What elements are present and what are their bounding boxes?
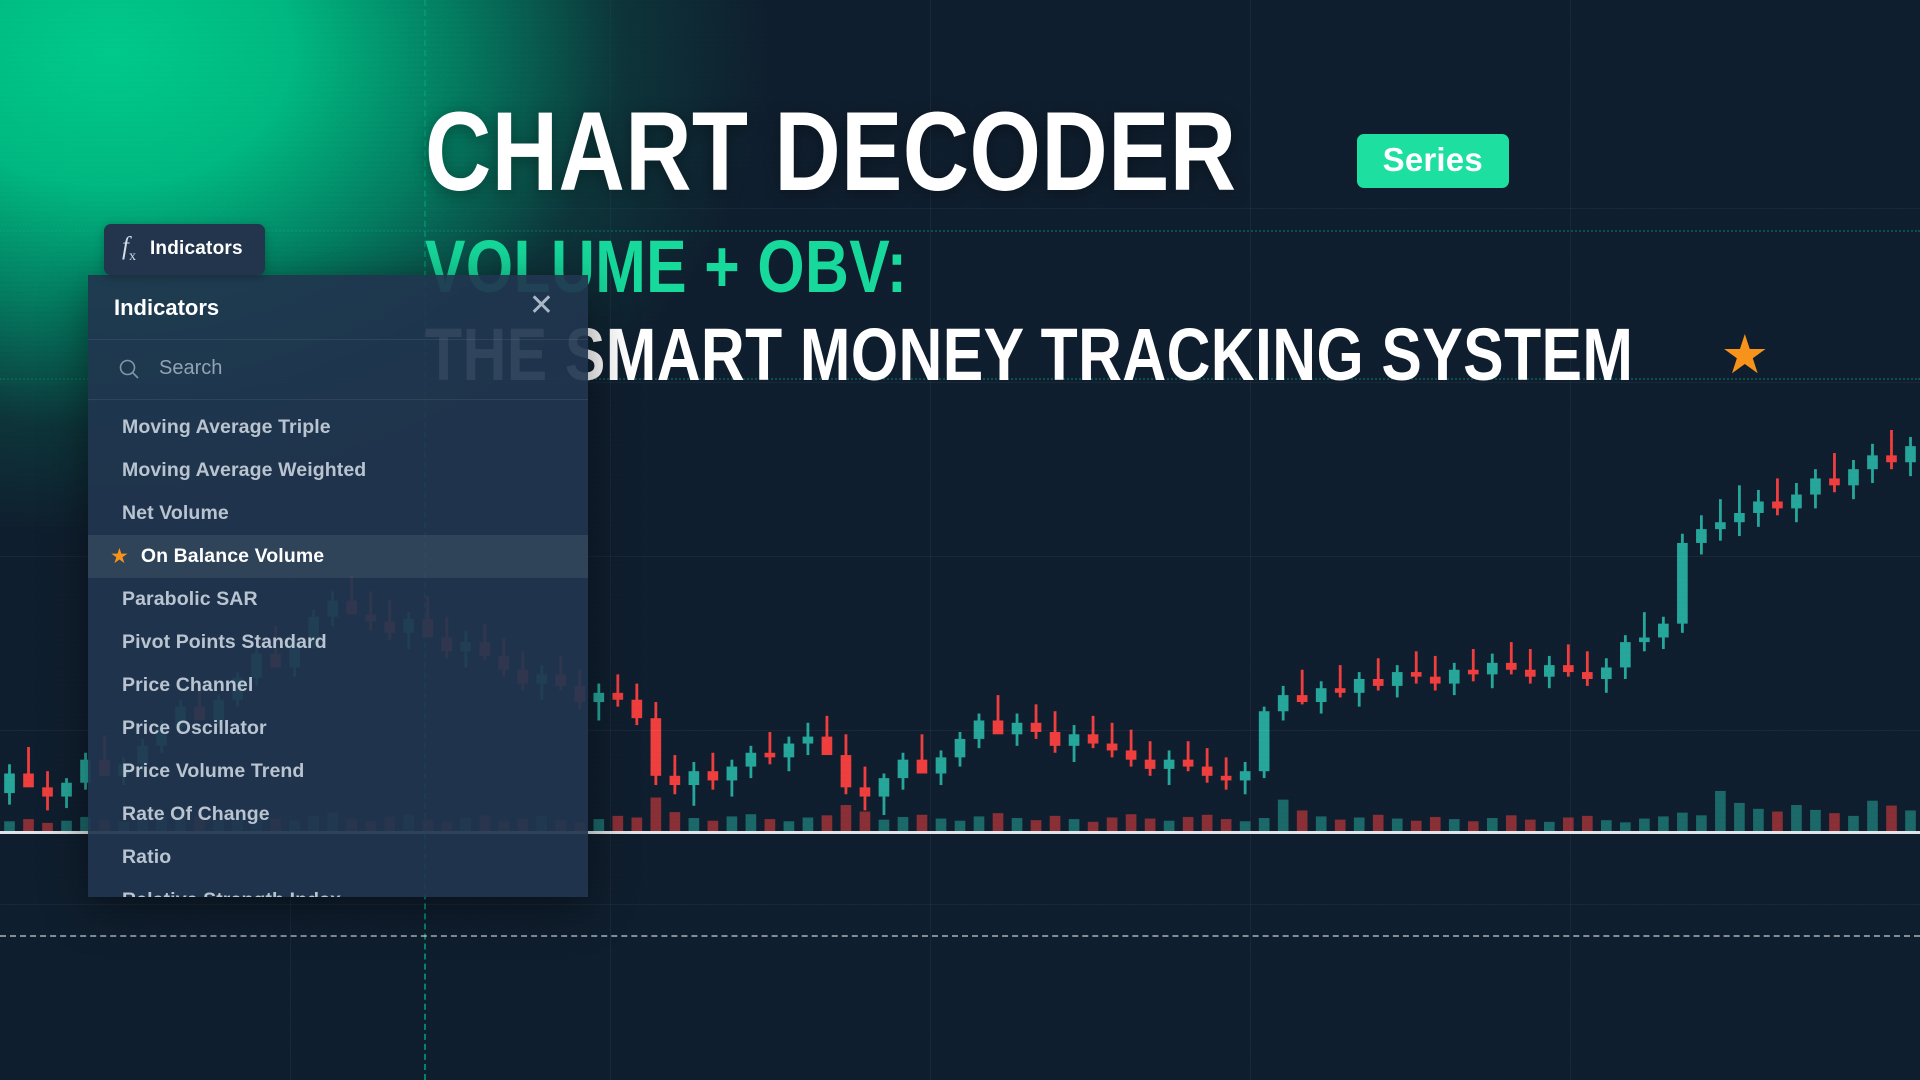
indicator-item-label: Net Volume bbox=[122, 502, 229, 525]
fx-icon: fx bbox=[122, 234, 136, 264]
search-icon bbox=[118, 358, 140, 380]
indicator-item[interactable]: ★On Balance Volume bbox=[88, 535, 588, 578]
indicator-item-label: Rate Of Change bbox=[122, 803, 270, 826]
indicator-item-label: Price Oscillator bbox=[122, 717, 267, 740]
search-bar[interactable] bbox=[88, 340, 588, 400]
indicator-item[interactable]: Moving Average Triple bbox=[88, 406, 588, 449]
indicator-item-label: Relative Strength Index bbox=[122, 889, 341, 897]
indicator-item[interactable]: Net Volume bbox=[88, 492, 588, 535]
panel-title: Indicators bbox=[114, 295, 219, 321]
obv-zero-line bbox=[0, 935, 1920, 937]
indicator-item-label: On Balance Volume bbox=[141, 545, 324, 568]
indicator-item-label: Parabolic SAR bbox=[122, 588, 258, 611]
indicator-item[interactable]: Pivot Points Standard bbox=[88, 621, 588, 664]
indicator-item-label: Pivot Points Standard bbox=[122, 631, 327, 654]
indicators-button-label: Indicators bbox=[150, 238, 243, 260]
indicator-item[interactable]: Price Channel bbox=[88, 664, 588, 707]
indicator-item-label: Price Channel bbox=[122, 674, 253, 697]
panel-header: Indicators ✕ bbox=[88, 275, 588, 340]
grid-dotted-row-2 bbox=[0, 230, 1920, 232]
indicator-item-label: Ratio bbox=[122, 846, 171, 869]
indicator-item[interactable]: Parabolic SAR bbox=[88, 578, 588, 621]
indicators-panel: Indicators ✕ Moving Average TripleMoving… bbox=[88, 275, 588, 897]
indicator-item[interactable]: Ratio bbox=[88, 836, 588, 879]
poster-canvas: CHART DECODER Series VOLUME + OBV: THE S… bbox=[0, 0, 1920, 1080]
indicator-item-label: Price Volume Trend bbox=[122, 760, 304, 783]
indicators-button[interactable]: fx Indicators bbox=[104, 224, 265, 275]
indicator-item-label: Moving Average Weighted bbox=[122, 459, 366, 482]
search-input[interactable] bbox=[157, 356, 562, 381]
indicator-item[interactable]: Relative Strength Index bbox=[88, 879, 588, 897]
indicator-item[interactable]: Price Oscillator bbox=[88, 707, 588, 750]
favorite-star-icon[interactable]: ★ bbox=[110, 546, 129, 567]
indicator-item[interactable]: Rate Of Change bbox=[88, 793, 588, 836]
indicator-item-label: Moving Average Triple bbox=[122, 416, 331, 439]
indicator-list: Moving Average TripleMoving Average Weig… bbox=[88, 400, 588, 897]
indicator-item[interactable]: Price Volume Trend bbox=[88, 750, 588, 793]
close-icon[interactable]: ✕ bbox=[529, 297, 554, 315]
indicator-item[interactable]: Moving Average Weighted bbox=[88, 449, 588, 492]
